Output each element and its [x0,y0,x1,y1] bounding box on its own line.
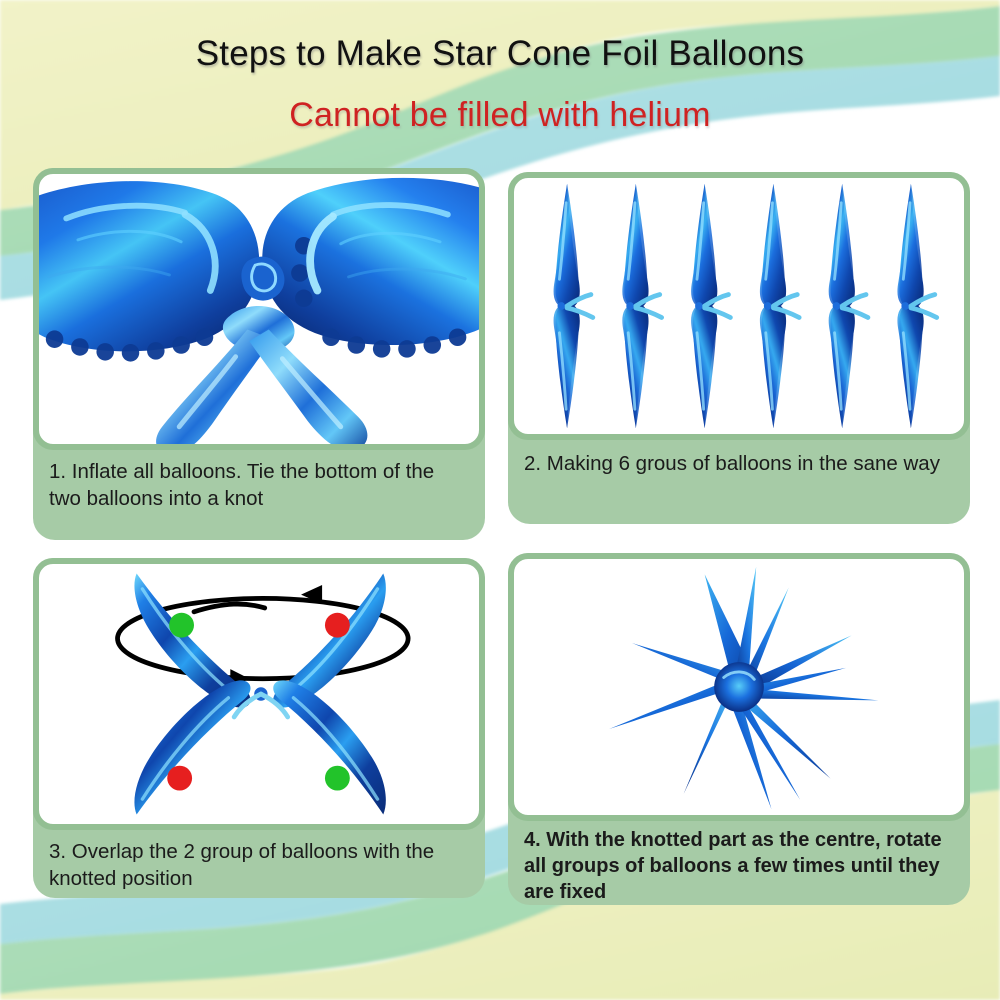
marker-red-bottom-left [167,766,192,791]
step-panel-2: 2. Making 6 grous of balloons in the san… [508,172,970,524]
step-image-card-4 [508,553,970,821]
step-panel-3: 3. Overlap the 2 group of balloons with … [33,558,485,898]
helium-warning: Cannot be filled with helium [0,95,1000,135]
step-image-card-1 [33,168,485,450]
step-image-card-2 [508,172,970,440]
poster-header: Steps to Make Star Cone Foil Balloons Ca… [0,0,1000,160]
star-cone-balloon [609,567,878,810]
balloon-right [262,178,479,358]
step-caption-3: 3. Overlap the 2 group of balloons with … [33,832,485,900]
step-panel-1: 1. Inflate all balloons. Tie the bottom … [33,168,485,540]
balloon-pair-group [554,184,937,429]
steps-grid: 1. Inflate all balloons. Tie the bottom … [0,168,1000,928]
step-panel-4: 4. With the knotted part as the centre, … [508,553,970,905]
marker-green-top-left [169,613,194,638]
two-groups-overlapped-x-shape-with-rotation-arrow-image [39,564,479,824]
page-title: Steps to Make Star Cone Foil Balloons [0,33,1000,75]
poster-root: Steps to Make Star Cone Foil Balloons Ca… [0,0,1000,1000]
two-inflated-star-cone-balloons-knotted-image [39,174,479,444]
six-groups-of-paired-cone-balloons-image [514,178,964,434]
marker-red-top-right [325,613,350,638]
step-caption-4: 4. With the knotted part as the centre, … [508,821,970,913]
rotation-arc-top [194,604,265,612]
step-image-card-3 [33,558,485,830]
finished-twelve-point-blue-star-cone-balloon-image [514,559,964,815]
step-caption-1: 1. Inflate all balloons. Tie the bottom … [33,452,485,520]
marker-green-bottom-right [325,766,350,791]
step-caption-2: 2. Making 6 grous of balloons in the san… [508,444,970,485]
